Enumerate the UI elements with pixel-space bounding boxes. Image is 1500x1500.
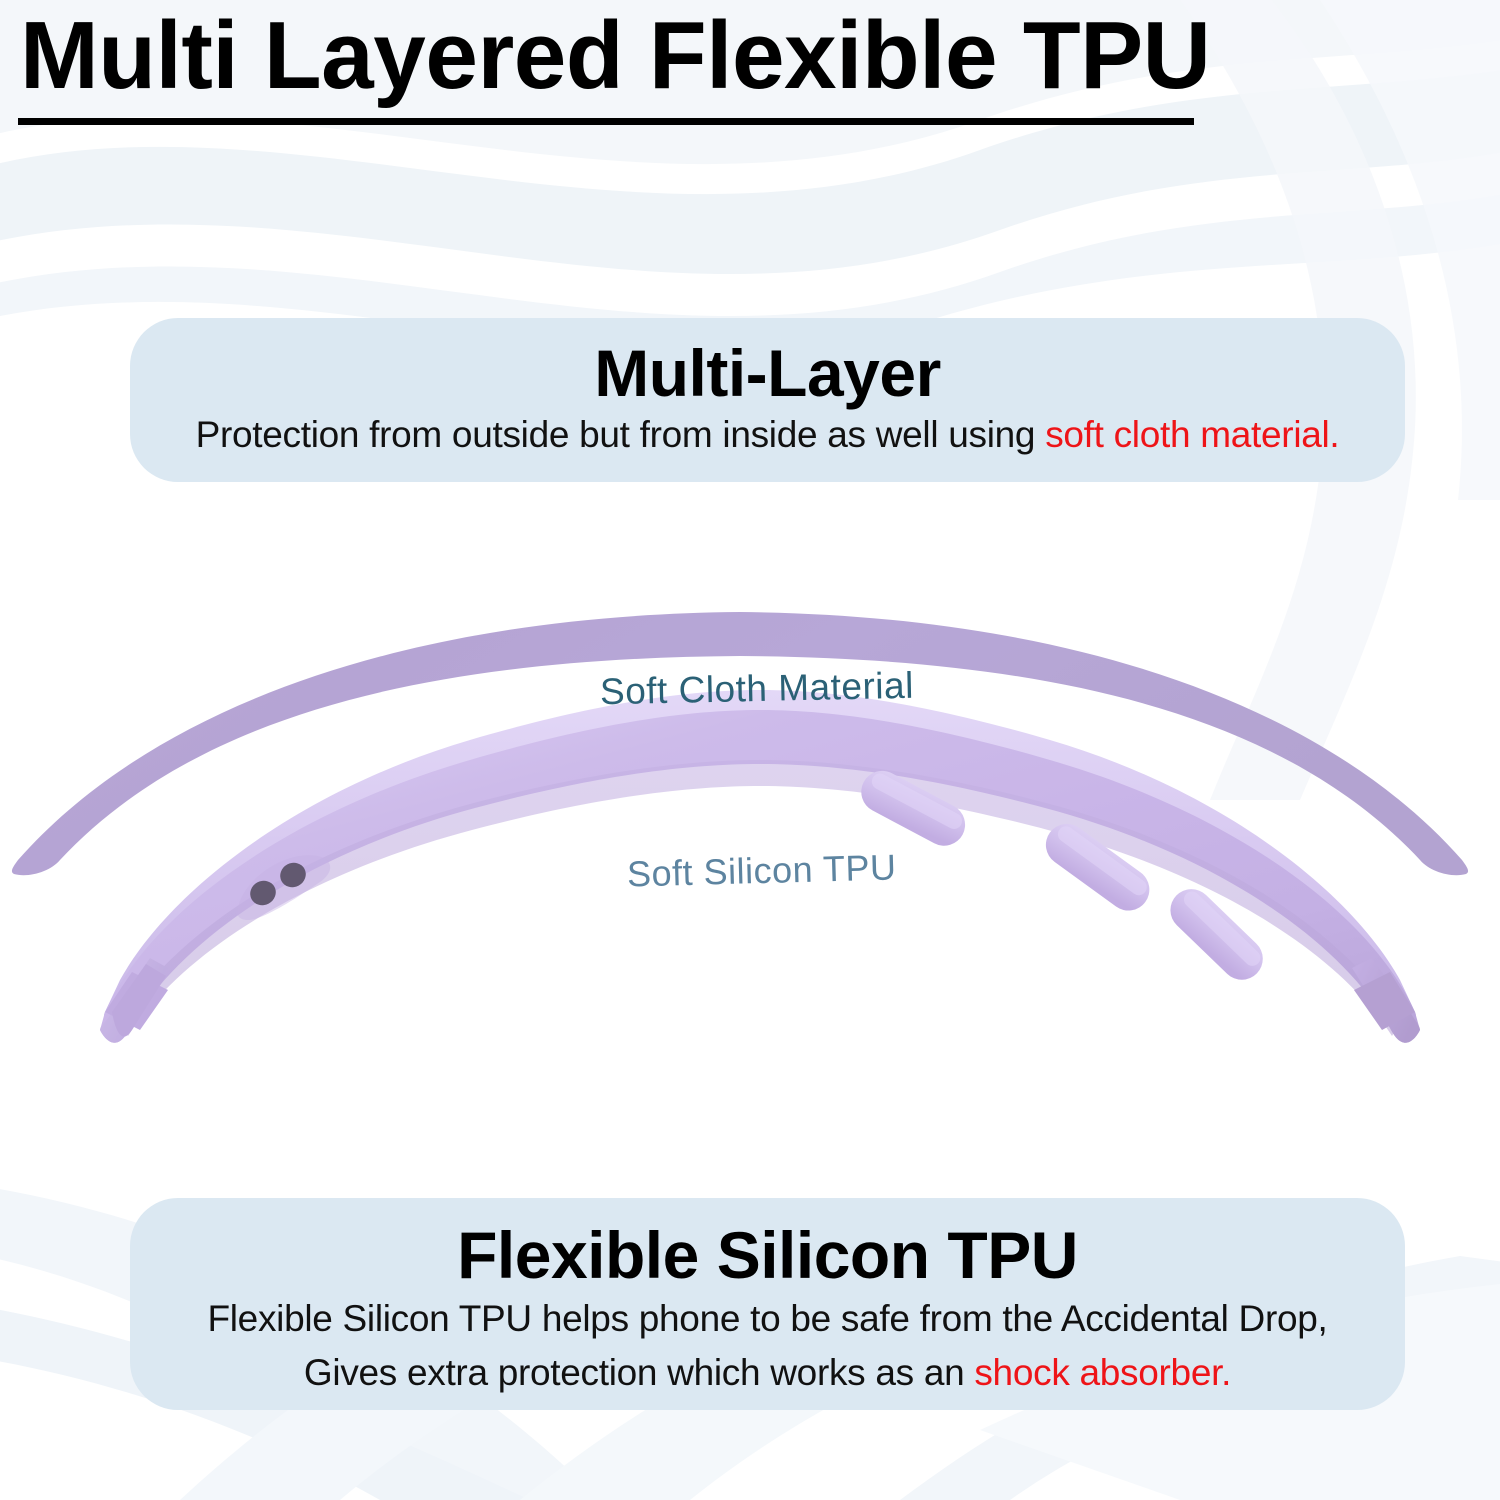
card-body-text: Protection from outside but from inside …: [196, 414, 1046, 455]
infographic-page: Multi Layered Flexible TPU Multi-Layer P…: [0, 0, 1500, 1500]
label-soft-silicon-tpu: Soft Silicon TPU: [626, 846, 896, 895]
card-heading-multi-layer: Multi-Layer: [130, 336, 1405, 410]
phone-case-illustration: [0, 560, 1500, 1080]
info-card-flexible-silicon-tpu: Flexible Silicon TPU Flexible Silicon TP…: [130, 1198, 1405, 1410]
info-card-multi-layer: Multi-Layer Protection from outside but …: [130, 318, 1405, 482]
card-body-highlight: soft cloth material.: [1045, 414, 1339, 455]
title-underline-rule: [18, 118, 1194, 125]
card-body-highlight: shock absorber.: [974, 1352, 1231, 1393]
card-heading-flexible-silicon-tpu: Flexible Silicon TPU: [130, 1218, 1405, 1292]
card-body-text: Gives extra protection which works as an: [304, 1352, 974, 1393]
card-body-multi-layer: Protection from outside but from inside …: [130, 410, 1405, 460]
label-soft-cloth-material: Soft Cloth Material: [600, 665, 915, 714]
card-body-flexible-line2: Gives extra protection which works as an…: [130, 1346, 1405, 1400]
page-title: Multi Layered Flexible TPU: [20, 4, 1210, 108]
card-body-flexible-line1: Flexible Silicon TPU helps phone to be s…: [130, 1292, 1405, 1346]
